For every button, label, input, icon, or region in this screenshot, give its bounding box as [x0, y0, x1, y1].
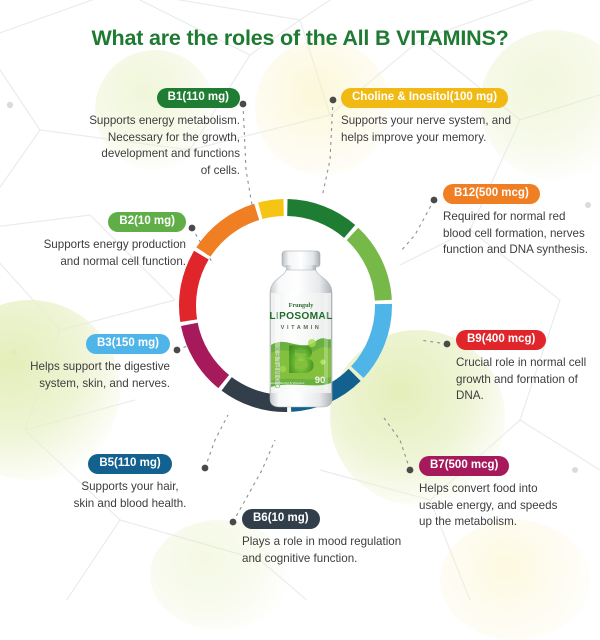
- callout-choline-inositol-text: Supports your nerve system, and helps im…: [341, 113, 561, 146]
- badge-b7: B7(500 mcg): [419, 456, 509, 476]
- callout-b7[interactable]: B7(500 mcg) Helps convert food into usab…: [419, 456, 579, 531]
- callout-b3[interactable]: B3(150 mg) Helps support the digestive s…: [0, 334, 170, 392]
- ring-segment-choline-inositol[interactable]: [260, 208, 283, 211]
- infographic-canvas: What are the roles of the All B VITAMINS…: [0, 0, 600, 600]
- badge-choline-inositol: Choline & Inositol(100 mg): [341, 88, 508, 108]
- ring-segment-b7[interactable]: [189, 324, 223, 381]
- callout-b2-text: Supports energy production and normal ce…: [0, 237, 186, 270]
- callout-b6[interactable]: B6(10 mg) Plays a role in mood regulatio…: [242, 509, 432, 567]
- product-bottle-image: B Frunguly LIPOSOMAL VITAMIN COMPLEX 90 …: [256, 249, 346, 409]
- ring-segment-b1[interactable]: [287, 208, 349, 232]
- badge-b2: B2(10 mg): [108, 212, 186, 232]
- ring-segment-b9[interactable]: [188, 255, 202, 320]
- badge-b6: B6(10 mg): [242, 509, 320, 529]
- callout-b1[interactable]: B1(110 mg) Supports energy metabolism. N…: [40, 88, 240, 179]
- callout-b12[interactable]: B12(500 mcg) Required for normal red blo…: [443, 184, 600, 259]
- badge-b12: B12(500 mcg): [443, 184, 540, 204]
- bottle-brand: Frunguly: [289, 302, 315, 309]
- bottle-footer-line-1: Delivers Methyl B Vitamins: [268, 381, 305, 385]
- callout-b9-text: Crucial role in normal cell growth and f…: [456, 355, 600, 404]
- callout-b1-text: Supports energy metabolism. Necessary fo…: [40, 113, 240, 179]
- bottle-letter-b: B: [287, 338, 316, 382]
- ring-segment-b2[interactable]: [352, 234, 383, 300]
- callout-b7-text: Helps convert food into usable energy, a…: [419, 481, 579, 530]
- ring-segment-b12[interactable]: [203, 212, 256, 252]
- callout-b5-text: Supports your hair, skin and blood healt…: [60, 479, 200, 512]
- badge-b3: B3(150 mg): [86, 334, 170, 354]
- ring-segment-b3[interactable]: [357, 304, 383, 372]
- bottle-line-vitamin: VITAMIN: [281, 325, 322, 331]
- callout-b5[interactable]: B5(110 mg) Supports your hair, skin and …: [60, 454, 200, 512]
- callout-b6-text: Plays a role in mood regulation and cogn…: [242, 534, 432, 567]
- callout-b2[interactable]: B2(10 mg) Supports energy production and…: [0, 212, 186, 270]
- callout-b12-text: Required for normal red blood cell forma…: [443, 209, 600, 258]
- callout-b3-text: Helps support the digestive system, skin…: [0, 359, 170, 392]
- page-title: What are the roles of the All B VITAMINS…: [0, 26, 600, 51]
- bottle-capsule-count: 90: [315, 375, 326, 386]
- badge-b5: B5(110 mg): [88, 454, 171, 474]
- badge-b1: B1(110 mg): [157, 88, 240, 108]
- badge-b9: B9(400 mcg): [456, 330, 546, 350]
- callout-b9[interactable]: B9(400 mcg) Crucial role in normal cell …: [456, 330, 600, 405]
- callout-choline-inositol[interactable]: Choline & Inositol(100 mg) Supports your…: [341, 88, 561, 146]
